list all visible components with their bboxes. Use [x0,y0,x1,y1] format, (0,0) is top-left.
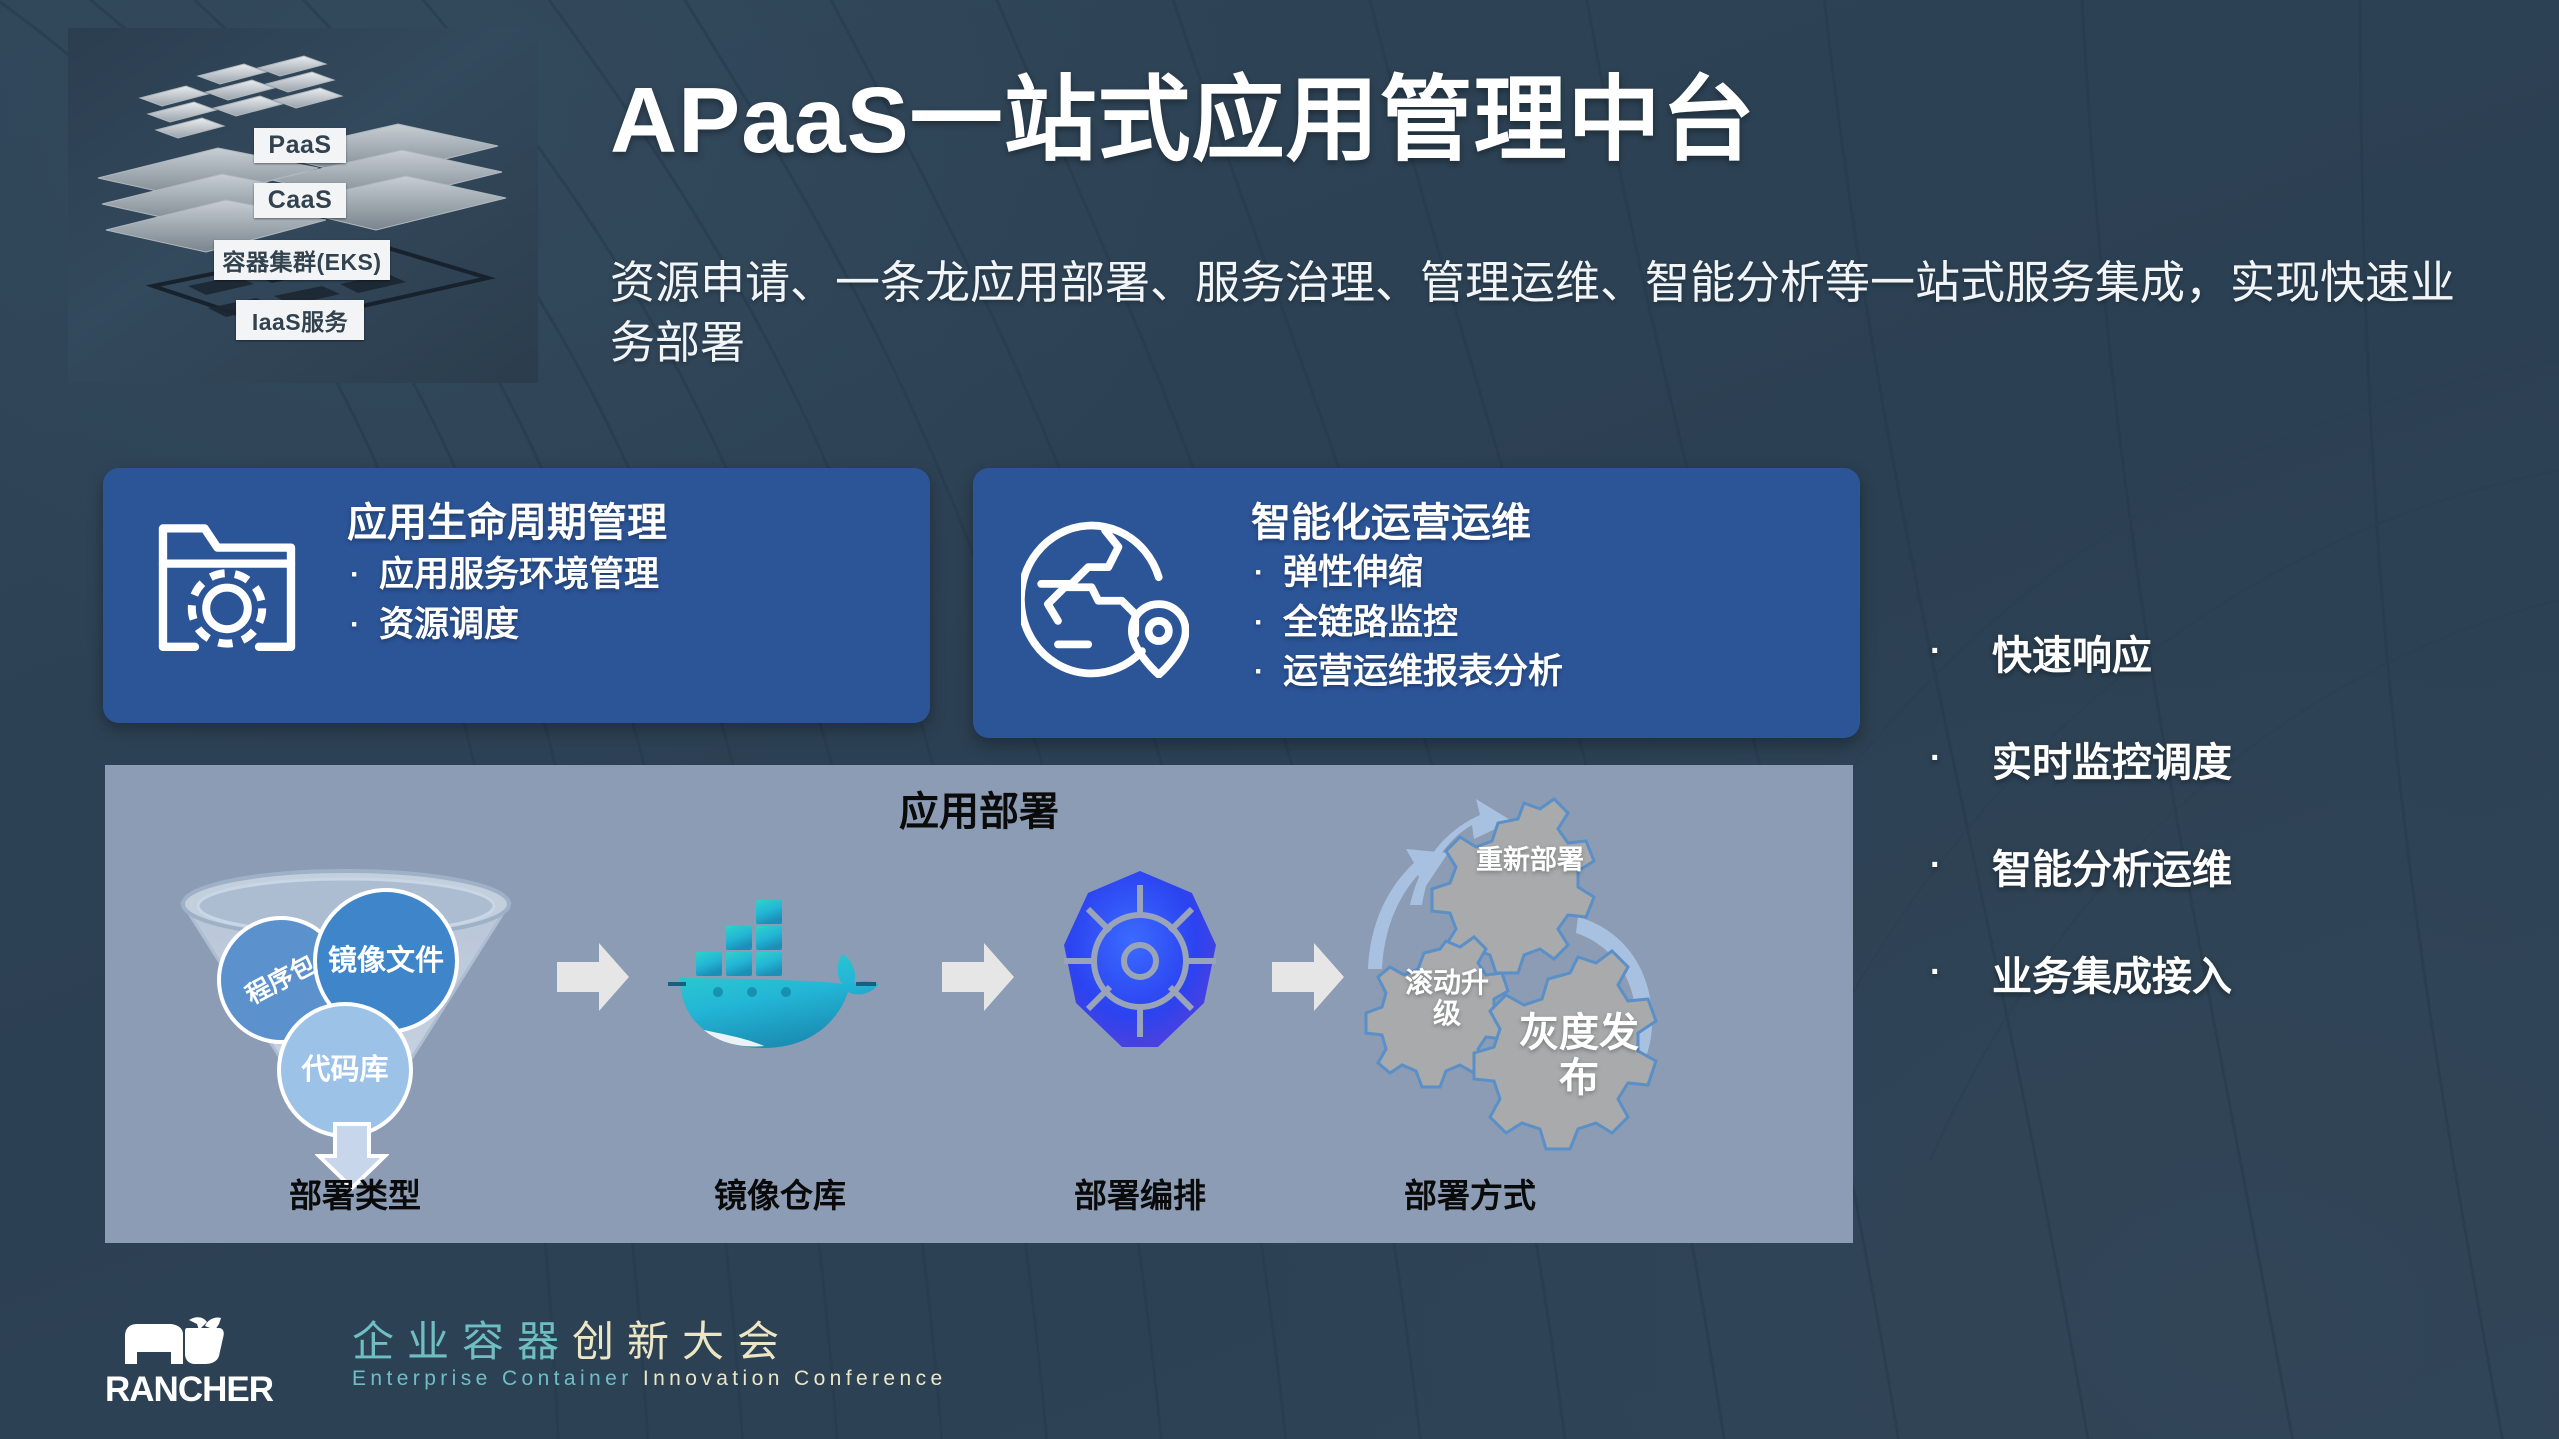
gears-icon: 重新部署 滚动升级 灰度发布 [1350,787,1710,1167]
card-title: 智能化运营运维 [1251,490,1531,548]
bullet-dot: · [1930,953,1992,992]
list-item: · 弹性伸缩 [1235,552,1563,595]
conference-en-part3: Innovation Conference [643,1367,947,1390]
conference-en-part1: Enterprise Container [352,1367,633,1390]
stack-layer-caas: CaaS [254,183,346,218]
benefits-list: · 快速响应 · 实时监控调度 · 智能分析运维 · 业务集成接入 [1930,598,2232,1026]
conference-en-part2 [633,1367,643,1390]
rancher-wordmark: RANCHER [105,1370,273,1410]
bullet-dot: · [331,607,379,644]
list-item: · 实时监控调度 [1930,705,2232,812]
list-item-label: 应用服务环境管理 [379,554,659,597]
slide-root: PaaS CaaS 容器集群(EKS) IaaS服务 APaaS一站式应用管理中… [0,0,2559,1439]
stage-label-deploy-type: 部署类型 [185,1169,525,1217]
arrow-right-icon-3 [1270,940,1346,1014]
bullet-dot: · [331,557,379,594]
stack-layer-eks: 容器集群(EKS) [214,240,390,280]
arrow-right-icon-1 [555,940,631,1014]
list-item-label: 运营运维报表分析 [1283,651,1563,694]
card-title: 应用生命周期管理 [347,490,667,548]
docker-whale-icon [660,880,900,1055]
gear-label-redeploy: 重新部署 [1470,845,1590,875]
bullet-dot: · [1930,739,1992,778]
list-item-label: 实时监控调度 [1992,730,2232,788]
card-bullet-list: · 应用服务环境管理 · 资源调度 [331,554,659,653]
rancher-logo: RANCHER [105,1318,330,1404]
list-item: · 业务集成接入 [1930,919,2232,1026]
bullet-dot: · [1930,632,1992,671]
conference-name-cn: 企业容器创新大会 [352,1318,947,1365]
list-item-label: 快速响应 [1992,623,2152,681]
list-item-label: 弹性伸缩 [1283,552,1423,595]
conference-logo: 企业容器创新大会 Enterprise Container Innovation… [352,1318,947,1391]
funnel-input-code-repo: 代码库 [277,1002,413,1138]
arrow-right-icon-2 [940,940,1016,1014]
list-item-label: 业务集成接入 [1992,944,2232,1002]
conference-cn-part1: 企业容器 [352,1318,572,1365]
card-bullet-list: · 弹性伸缩 · 全链路监控 · 运营运维报表分析 [1235,552,1563,701]
bullet-dot: · [1235,654,1283,691]
gear-label-gray-release: 灰度发布 [1516,1011,1642,1101]
list-item: · 智能分析运维 [1930,812,2232,919]
kubernetes-helm-icon [1040,865,1240,1065]
list-item: · 快速响应 [1930,598,2232,705]
bullet-dot: · [1930,846,1992,885]
funnel-icon: 程序包 镜像文件 代码库 [165,860,545,1160]
list-item: · 资源调度 [331,604,659,647]
folder-gear-icon [147,506,307,666]
gear-label-rolling-upgrade: 滚动升级 [1394,967,1500,1030]
rancher-cow-icon [111,1314,336,1370]
stack-layer-paas: PaaS [254,128,346,163]
globe-location-icon [1021,510,1189,678]
stack-layer-iaas: IaaS服务 [236,300,364,340]
list-item: · 全链路监控 [1235,602,1563,645]
page-subtitle: 资源申请、一条龙应用部署、服务治理、管理运维、智能分析等一站式服务集成，实现快速… [610,253,2470,373]
list-item-label: 全链路监控 [1283,602,1458,645]
stage-label-orchestration: 部署编排 [1020,1169,1260,1217]
list-item-label: 资源调度 [379,604,519,647]
conference-cn-part2: 创新大会 [572,1318,792,1365]
stage-label-image-registry: 镜像仓库 [660,1169,900,1217]
list-item: · 应用服务环境管理 [331,554,659,597]
platform-stack-thumbnail: PaaS CaaS 容器集群(EKS) IaaS服务 [68,28,538,383]
bullet-dot: · [1235,605,1283,642]
list-item-label: 智能分析运维 [1992,837,2232,895]
deployment-panel: 应用部署 程序包 镜像文件 代码库 部署类型 [105,765,1853,1243]
card-intelligent-ops[interactable]: 智能化运营运维 · 弹性伸缩 · 全链路监控 · 运营运维报表分析 [973,468,1860,738]
card-app-lifecycle[interactable]: 应用生命周期管理 · 应用服务环境管理 · 资源调度 [103,468,930,723]
page-title: APaaS一站式应用管理中台 [610,72,1756,170]
bullet-dot: · [1235,555,1283,592]
list-item: · 运营运维报表分析 [1235,651,1563,694]
footer-logo: RANCHER 企业容器创新大会 Enterprise Container In… [105,1318,947,1408]
stage-label-deploy-mode: 部署方式 [1345,1169,1595,1217]
conference-name-en: Enterprise Container Innovation Conferen… [352,1367,947,1391]
